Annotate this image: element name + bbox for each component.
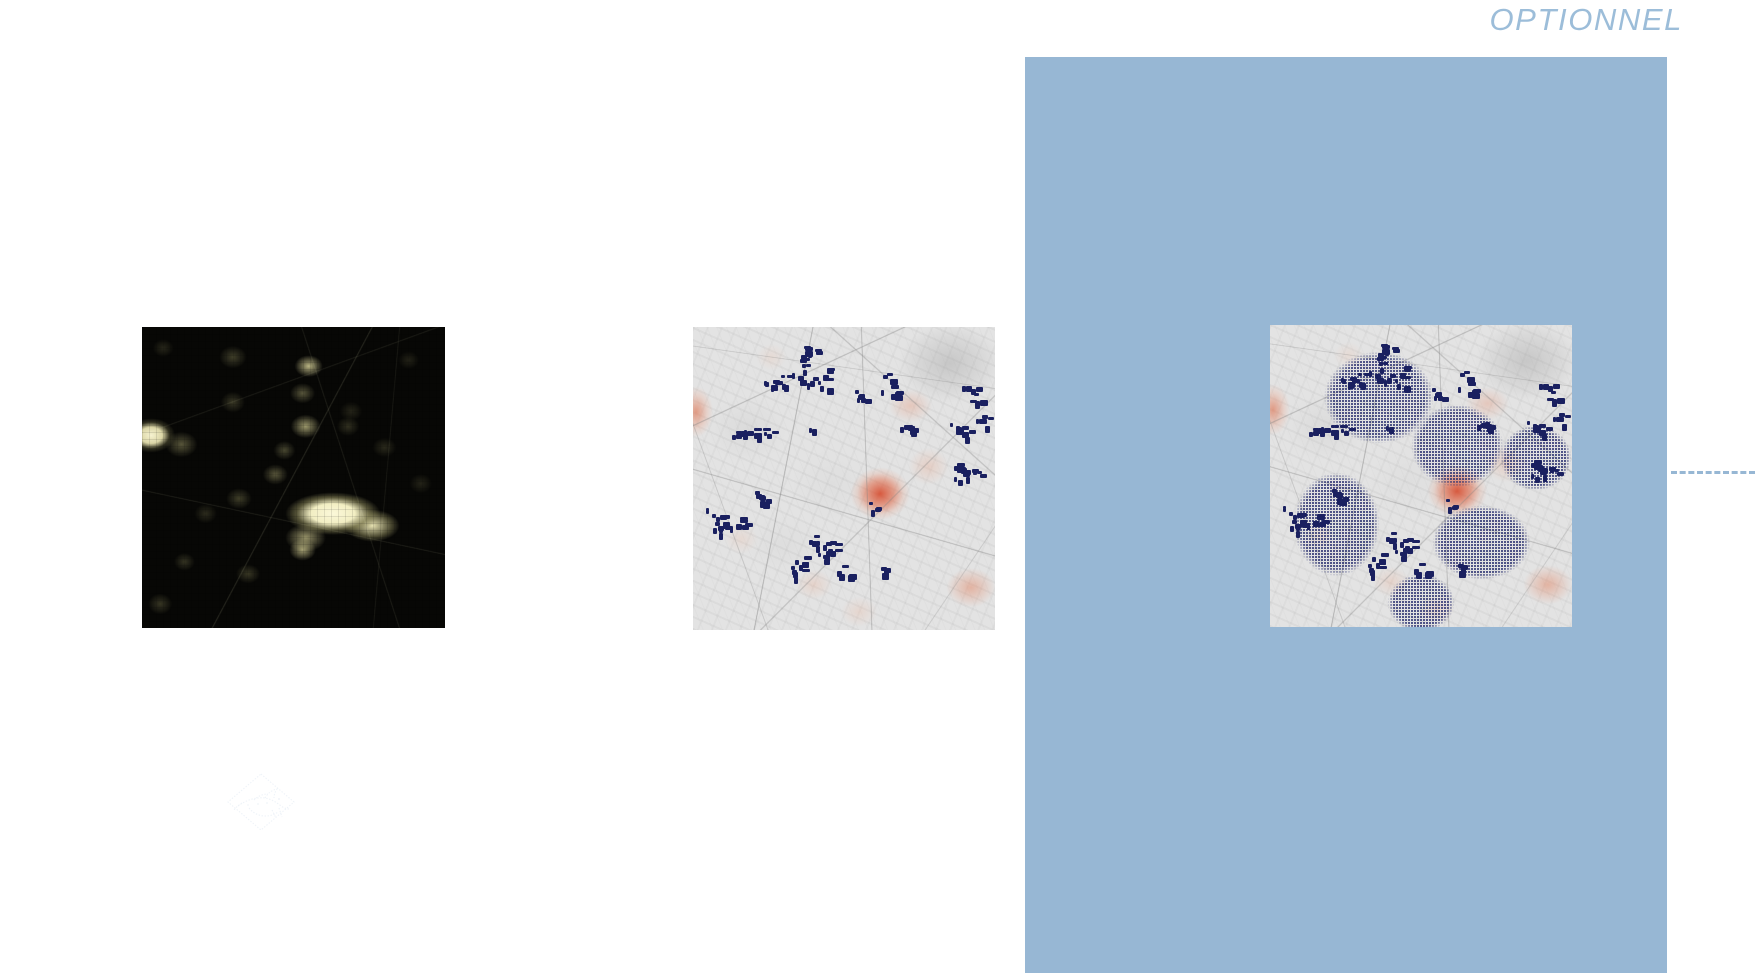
diamond-logo-watermark: [224, 770, 298, 834]
dashed-connector-line: [1671, 471, 1755, 474]
population-choropleth-map[interactable]: [693, 327, 995, 630]
screenshot-stage: OPTIONNEL: [0, 0, 1755, 973]
masked-navy-marker-layer: [1270, 325, 1572, 627]
page-title-optionnel: OPTIONNEL: [1489, 2, 1683, 38]
nightlights-radiance: [142, 327, 445, 628]
navy-marker-layer: [693, 327, 995, 630]
nighttime-lights-raster[interactable]: [142, 327, 445, 628]
masked-choropleth-map[interactable]: [1270, 325, 1572, 627]
